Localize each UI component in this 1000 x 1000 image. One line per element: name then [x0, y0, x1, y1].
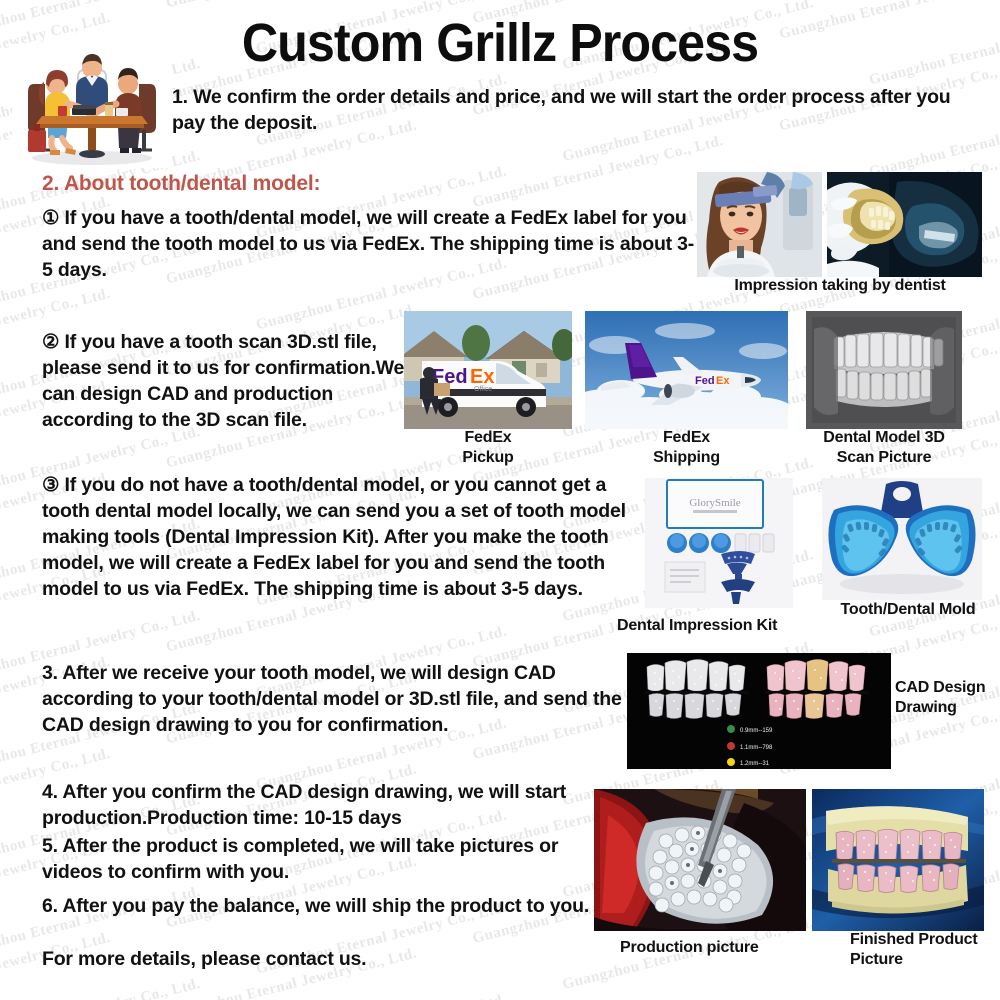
dentist-holding-mold-xray-photo [827, 172, 982, 277]
cad-legend-label-0: 0.9mm--159 [740, 728, 773, 734]
svg-text:Ex: Ex [470, 366, 494, 388]
watermark-text: Guangzhou Eternal Jewelry Co., Ltd. [254, 991, 508, 1000]
caption-tooth-mold: Tooth/Dental Mold [822, 600, 994, 620]
page-title: Custom Grillz Process [35, 12, 965, 74]
option-2-text: ② If you have a tooth scan 3D.stl file, … [42, 329, 417, 433]
caption-fedex-shipping-line2: Shipping [585, 448, 788, 468]
svg-text:Fed: Fed [695, 375, 715, 387]
caption-dental-scan-line1: Dental Model 3D [806, 428, 962, 448]
caption-dental-scan: Dental Model 3D Scan Picture [806, 428, 962, 468]
cad-legend: 0.9mm--159 1.1mm--798 1.2mm--31 [727, 725, 773, 767]
caption-impression-kit: Dental Impression Kit [617, 616, 847, 636]
blue-dental-impression-trays-photo [822, 478, 982, 600]
closing-text: For more details, please contact us. [42, 946, 602, 972]
cad-grillz-render: 0.9mm--159 1.1mm--798 1.2mm--31 [627, 653, 891, 769]
fedex-delivery-van-photo: Fed Ex Office [404, 311, 572, 429]
iced-out-grillz-macro-photo [594, 789, 806, 931]
caption-impression-dentist: Impression taking by dentist [690, 276, 990, 296]
caption-finished-product: Finished Product Picture [850, 930, 1000, 970]
svg-text:Office: Office [474, 386, 492, 393]
caption-dental-scan-line2: Scan Picture [806, 448, 962, 468]
caption-cad-design: CAD Design Drawing [895, 678, 1000, 718]
svg-text:Ex: Ex [716, 375, 730, 387]
caption-fedex-pickup-line2: Pickup [404, 448, 572, 468]
option-3-text: ③ If you do not have a tooth/dental mode… [42, 472, 642, 602]
pink-diamond-grillz-on-model-photo [812, 789, 984, 931]
option-1-text: ① If you have a tooth/dental model, we w… [42, 205, 697, 283]
caption-fedex-pickup: FedEx Pickup [404, 428, 572, 468]
fedex-cargo-plane-photo: Fed Ex [585, 311, 788, 429]
caption-fedex-shipping-line1: FedEx [585, 428, 788, 448]
woman-dental-scanner-photo [697, 172, 822, 277]
kit-brand-text: GlorySmile [689, 497, 740, 509]
caption-production: Production picture [620, 938, 840, 958]
process-infographic: Guangzhou Eternal Jewelry Co., Ltd.Guang… [0, 0, 1000, 1000]
cad-legend-label-2: 1.2mm--31 [740, 761, 770, 767]
caption-cad-line2: Drawing [895, 698, 1000, 718]
caption-fedex-shipping: FedEx Shipping [585, 428, 788, 468]
caption-finished-line1: Finished Product [850, 930, 1000, 950]
step-6-text: 6. After you pay the balance, we will sh… [42, 893, 602, 919]
cad-legend-label-1: 1.1mm--798 [740, 745, 773, 751]
caption-finished-line2: Picture [850, 950, 1000, 970]
watermark-text: Guangzhou Eternal Jewelry Co., Ltd. [164, 0, 418, 11]
caption-cad-line1: CAD Design [895, 678, 1000, 698]
watermark-text: Guangzhou Eternal Jewelry Co., Ltd. [0, 976, 202, 1000]
step-1-text: 1. We confirm the order details and pric… [172, 84, 962, 136]
step-3-text: 3. After we receive your tooth model, we… [42, 660, 627, 738]
caption-fedex-pickup-line1: FedEx [404, 428, 572, 448]
watermark-text: Guangzhou Eternal Jewelry Co., Ltd. [471, 133, 725, 211]
step-4-text: 4. After you confirm the CAD design draw… [42, 779, 602, 831]
glorysmile-impression-kit-photo: GlorySmile [645, 478, 793, 608]
step-5-text: 5. After the product is completed, we wi… [42, 833, 602, 885]
dental-model-3d-scan-render [806, 311, 962, 429]
section-2-heading: 2. About tooth/dental model: [42, 172, 320, 196]
